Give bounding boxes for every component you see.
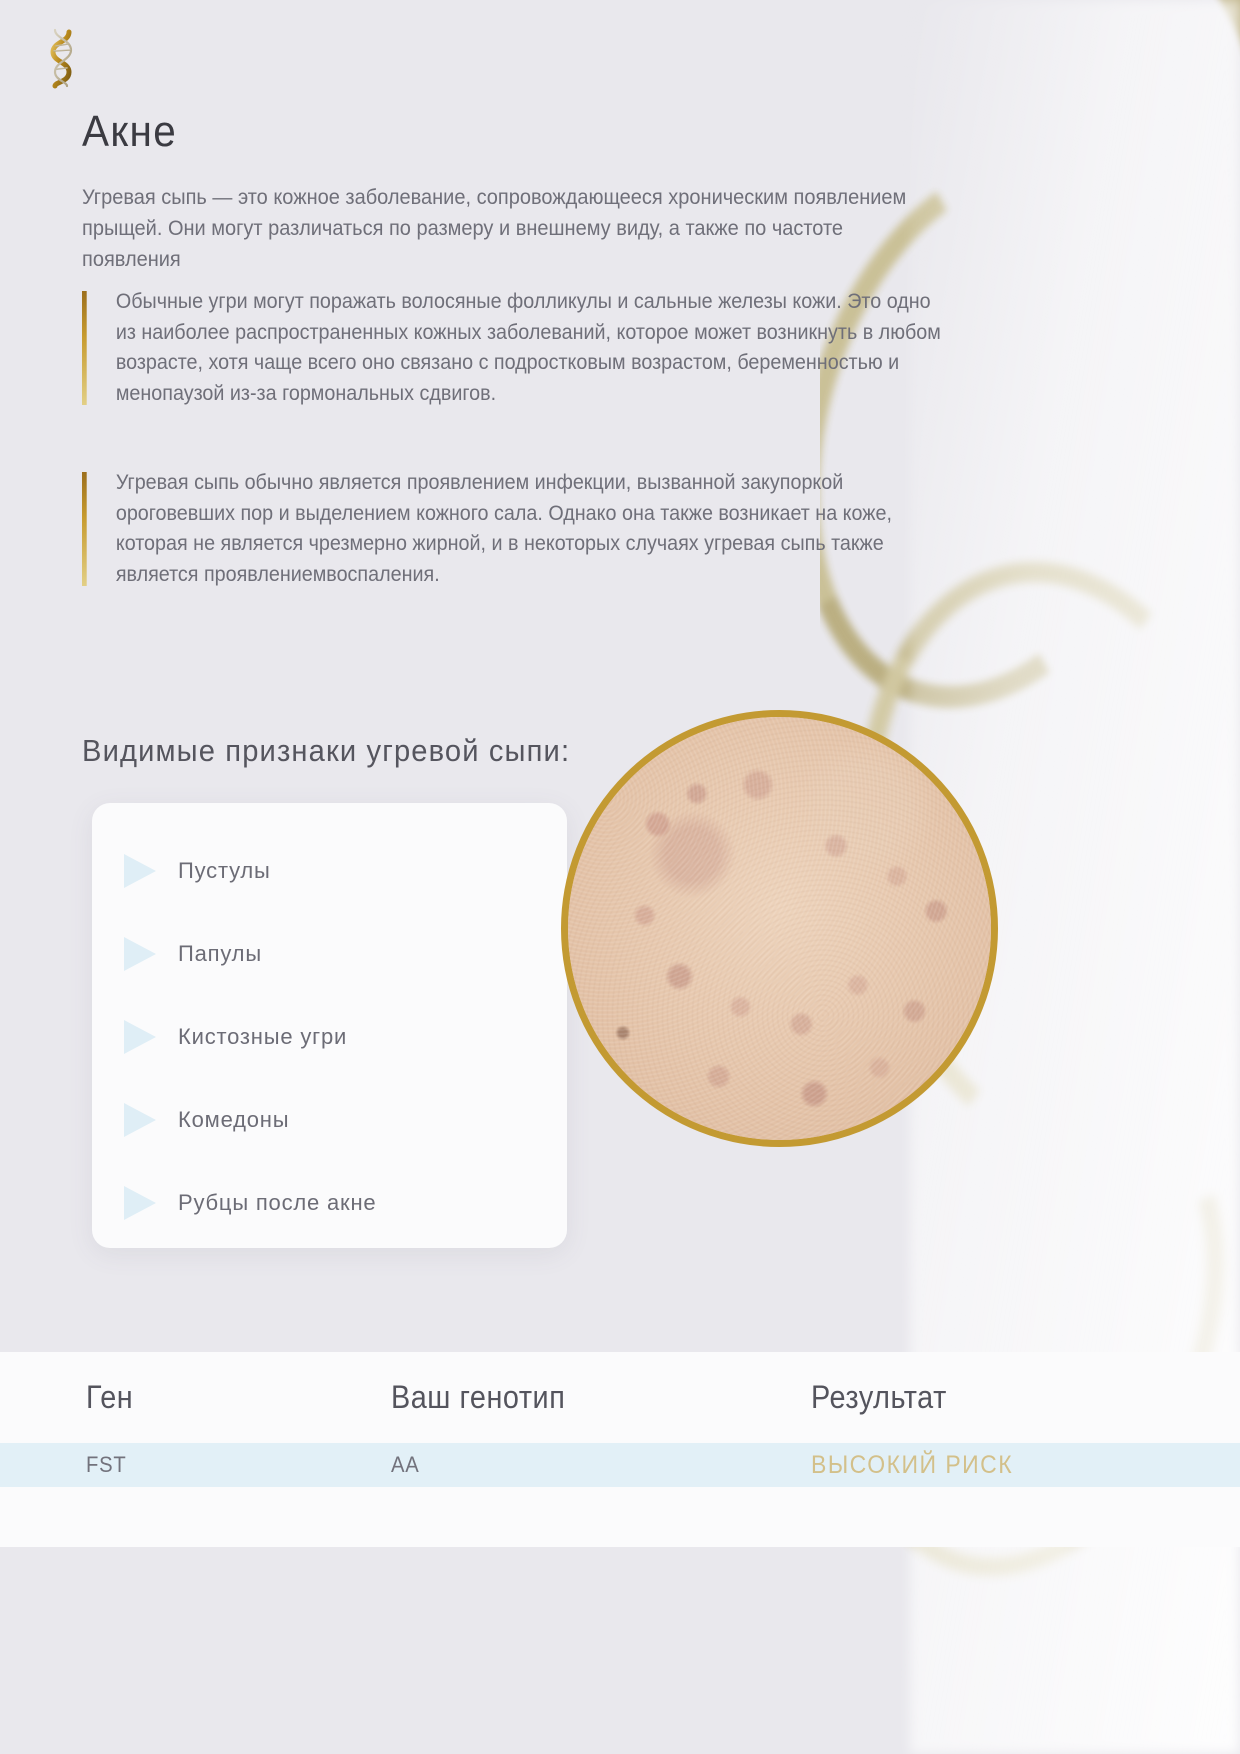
list-item: Комедоны: [92, 1078, 567, 1161]
cell-genotype: AA: [391, 1452, 777, 1478]
triangle-right-icon: [124, 1103, 156, 1137]
report-page: Акне Угревая сыпь — это кожное заболеван…: [0, 0, 1240, 1754]
quote-block-2: Угревая сыпь обычно является проявлением…: [82, 468, 943, 590]
list-item: Папулы: [92, 912, 567, 995]
table-row: FST AA ВЫСОКИЙ РИСК: [0, 1443, 1240, 1487]
table-band: Ген Ваш генотип Результат FST AA ВЫСОКИЙ…: [0, 1352, 1240, 1547]
triangle-right-icon: [124, 854, 156, 888]
sign-label: Пустулы: [178, 858, 271, 884]
list-item: Рубцы после акне: [92, 1161, 567, 1244]
skin-texture: [562, 711, 997, 1146]
triangle-right-icon: [124, 1186, 156, 1220]
column-header-result: Результат: [811, 1379, 1197, 1416]
section-heading-signs: Видимые признаки угревой сыпи:: [82, 733, 570, 769]
quote-block-1: Обычные угри могут поражать волосяные фо…: [82, 287, 943, 409]
intro-paragraph: Угревая сыпь — это кожное заболевание, с…: [82, 182, 919, 275]
status-badge: ВЫСОКИЙ РИСК: [811, 1451, 1206, 1480]
table-bottom-spacer: [0, 1487, 1240, 1547]
visible-signs-card: Пустулы Папулы Кистозные угри Комедоны Р…: [92, 803, 567, 1248]
acne-skin-closeup-photo: [561, 710, 998, 1147]
triangle-right-icon: [124, 937, 156, 971]
table-header-row: Ген Ваш генотип Результат: [0, 1352, 1240, 1443]
signs-list: Пустулы Папулы Кистозные угри Комедоны Р…: [92, 803, 567, 1244]
triangle-right-icon: [124, 1020, 156, 1054]
list-item: Пустулы: [92, 829, 567, 912]
list-item: Кистозные угри: [92, 995, 567, 1078]
column-header-genotype: Ваш генотип: [391, 1379, 769, 1416]
gene-result-table: Ген Ваш генотип Результат FST AA ВЫСОКИЙ…: [0, 1352, 1240, 1547]
sign-label: Папулы: [178, 941, 262, 967]
sign-label: Кистозные угри: [178, 1024, 347, 1050]
dna-helix-logo-icon: [42, 24, 82, 90]
page-title: Акне: [82, 107, 177, 157]
sign-label: Комедоны: [178, 1107, 289, 1133]
sign-label: Рубцы после акне: [178, 1190, 376, 1216]
cell-gene: FST: [86, 1452, 367, 1478]
skin-grain: [562, 711, 997, 1146]
column-header-gene: Ген: [86, 1379, 361, 1416]
